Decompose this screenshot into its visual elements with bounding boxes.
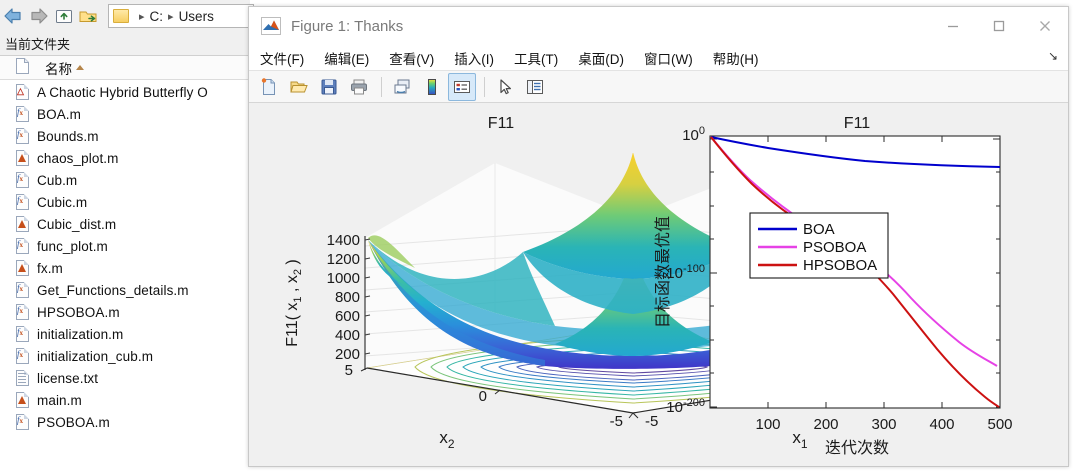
file-list-column-header: 名称 — [0, 56, 250, 80]
toolbar-separator-1 — [381, 77, 382, 97]
matlab-function-icon: fx — [16, 194, 30, 211]
edit-plot-icon[interactable] — [491, 73, 519, 101]
save-figure-icon[interactable] — [315, 73, 343, 101]
file-name: A Chaotic Hybrid Butterfly O — [37, 85, 208, 100]
file-list-item[interactable]: fxinitialization_cub.m — [0, 345, 250, 367]
convergence-legend[interactable]: BOA PSOBOA HPSOBOA — [750, 213, 888, 278]
figure-svg: F11 — [255, 108, 1062, 460]
back-arrow-icon[interactable] — [0, 3, 26, 29]
menu-overflow-icon[interactable]: ↘ — [1048, 49, 1058, 63]
file-name: license.txt — [37, 371, 98, 386]
matlab-function-icon: fx — [16, 348, 30, 365]
menu-desktop[interactable]: 桌面(D) — [569, 48, 633, 68]
maximize-icon[interactable] — [976, 7, 1022, 45]
forward-arrow-icon[interactable] — [26, 3, 52, 29]
convergence-xtick-500: 500 — [987, 416, 1012, 433]
new-figure-icon[interactable] — [255, 73, 283, 101]
file-list-item[interactable]: fxPSOBOA.m — [0, 411, 250, 433]
menu-tools[interactable]: 工具(T) — [505, 48, 567, 68]
column-header-name[interactable]: 名称 — [45, 58, 72, 78]
matlab-script-icon — [16, 150, 30, 167]
open-file-icon[interactable] — [285, 73, 313, 101]
link-plot-icon[interactable] — [388, 73, 416, 101]
legend-label-hpsoboa: HPSOBOA — [803, 257, 877, 274]
matlab-logo-icon — [261, 17, 281, 35]
surface-ytick-5: 5 — [345, 362, 353, 379]
colorbar-icon[interactable] — [418, 73, 446, 101]
up-one-level-icon[interactable] — [52, 4, 76, 28]
matlab-script-icon — [16, 260, 30, 277]
file-name: chaos_plot.m — [37, 151, 119, 166]
legend-label-boa: BOA — [803, 221, 835, 238]
surface-ztick-200: 200 — [335, 346, 360, 363]
file-list-item[interactable]: Cubic_dist.m — [0, 213, 250, 235]
convergence-xtick-200: 200 — [813, 416, 838, 433]
file-list-item[interactable]: fxHPSOBOA.m — [0, 301, 250, 323]
convergence-plot-title: F11 — [844, 115, 870, 132]
property-inspector-icon[interactable] — [521, 73, 549, 101]
file-name: PSOBOA.m — [37, 415, 110, 430]
file-name: BOA.m — [37, 107, 81, 122]
file-list-item[interactable]: fxCubic.m — [0, 191, 250, 213]
file-list-item[interactable]: chaos_plot.m — [0, 147, 250, 169]
file-name: Bounds.m — [37, 129, 99, 144]
file-list-item[interactable]: fxCub.m — [0, 169, 250, 191]
file-name: Cub.m — [37, 173, 77, 188]
toolbar-separator-2 — [484, 77, 485, 97]
surface-ztick-1400: 1400 — [327, 232, 360, 249]
browse-folder-icon[interactable] — [76, 4, 100, 28]
breadcrumb-separator-2: ▸ — [168, 10, 174, 23]
file-list-item[interactable]: fxfunc_plot.m — [0, 235, 250, 257]
convergence-ylabel: 目标函数最优值 — [654, 216, 672, 328]
figure-title-bar[interactable]: Figure 1: Thanks — [249, 7, 1068, 45]
file-list-item[interactable]: fxinitialization.m — [0, 323, 250, 345]
figure-window: Figure 1: Thanks 文件(F) 编辑(E) 查看(V) 插入(I)… — [248, 6, 1069, 467]
matlab-function-icon: fx — [16, 172, 30, 189]
convergence-xlabel: 迭代次数 — [825, 439, 889, 457]
surface-plot-title: F11 — [488, 115, 514, 132]
surface-xtick-neg5: -5 — [645, 413, 658, 430]
surface-ytick-0: 0 — [479, 388, 487, 405]
surface-ztick-400: 400 — [335, 327, 360, 344]
menu-edit[interactable]: 编辑(E) — [315, 48, 378, 68]
menu-window[interactable]: 窗口(W) — [635, 48, 702, 68]
file-list-item[interactable]: fxBounds.m — [0, 125, 250, 147]
file-name: Get_Functions_details.m — [37, 283, 189, 298]
page-file-icon — [16, 58, 29, 77]
breadcrumb-drive[interactable]: C: — [150, 9, 164, 24]
print-figure-icon[interactable] — [345, 73, 373, 101]
minimize-icon[interactable] — [930, 7, 976, 45]
folder-icon — [113, 9, 129, 23]
file-list-item[interactable]: fxBOA.m — [0, 103, 250, 125]
surface-ztick-1000: 1000 — [327, 270, 360, 287]
surface-ztick-800: 800 — [335, 289, 360, 306]
file-name: initialization.m — [37, 327, 123, 342]
menu-view[interactable]: 查看(V) — [380, 48, 443, 68]
sort-ascending-icon[interactable] — [76, 65, 84, 70]
file-name: initialization_cub.m — [37, 349, 153, 364]
matlab-script-icon — [16, 392, 30, 409]
figure-plot-canvas: F11 — [255, 108, 1062, 460]
convergence-xtick-100: 100 — [755, 416, 780, 433]
figure-toolbar[interactable] — [249, 71, 1068, 103]
file-name: main.m — [37, 393, 82, 408]
matlab-function-icon: fx — [16, 106, 30, 123]
matlab-function-icon: fx — [16, 282, 30, 299]
file-list-item[interactable]: △A Chaotic Hybrid Butterfly O — [0, 81, 250, 103]
file-list-item[interactable]: main.m — [0, 389, 250, 411]
breadcrumb-separator-1: ▸ — [139, 10, 145, 23]
current-folder-panel-title: 当前文件夹 — [0, 32, 250, 56]
matlab-function-icon: fx — [16, 414, 30, 431]
matlab-function-icon: fx — [16, 326, 30, 343]
matlab-function-icon: fx — [16, 238, 30, 255]
file-name: Cubic_dist.m — [37, 217, 116, 232]
surface-ztick-600: 600 — [335, 308, 360, 325]
legend-label-psoboa: PSOBOA — [803, 239, 866, 256]
address-bar[interactable]: ▸ C: ▸ Users — [108, 4, 254, 28]
close-icon[interactable] — [1022, 7, 1068, 45]
matlab-function-icon: fx — [16, 304, 30, 321]
file-name: fx.m — [37, 261, 63, 276]
file-name: func_plot.m — [37, 239, 108, 254]
menu-file[interactable]: 文件(F) — [251, 48, 313, 68]
pdf-file-icon: △ — [16, 84, 30, 101]
convergence-xtick-300: 300 — [871, 416, 896, 433]
file-list[interactable]: △A Chaotic Hybrid Butterfly OfxBOA.mfxBo… — [0, 81, 250, 473]
surface-ytick-neg5: -5 — [610, 413, 623, 430]
convergence-xtick-400: 400 — [929, 416, 954, 433]
matlab-script-icon — [16, 216, 30, 233]
matlab-function-icon: fx — [16, 128, 30, 145]
file-name: Cubic.m — [37, 195, 87, 210]
file-list-item[interactable]: fx.m — [0, 257, 250, 279]
file-list-item[interactable]: license.txt — [0, 367, 250, 389]
window-buttons — [930, 7, 1068, 45]
navigation-bar: ▸ C: ▸ Users — [0, 0, 250, 32]
legend-icon[interactable] — [448, 73, 476, 101]
menu-help[interactable]: 帮助(H) — [704, 48, 768, 68]
text-file-icon — [16, 370, 30, 387]
file-list-item[interactable]: fxGet_Functions_details.m — [0, 279, 250, 301]
menu-insert[interactable]: 插入(I) — [445, 48, 503, 68]
figure-menu-bar[interactable]: 文件(F) 编辑(E) 查看(V) 插入(I) 工具(T) 桌面(D) 窗口(W… — [249, 45, 1068, 71]
figure-title-text: Figure 1: Thanks — [291, 18, 403, 35]
file-name: HPSOBOA.m — [37, 305, 120, 320]
breadcrumb-users[interactable]: Users — [179, 9, 214, 24]
surface-ztick-1200: 1200 — [327, 251, 360, 268]
